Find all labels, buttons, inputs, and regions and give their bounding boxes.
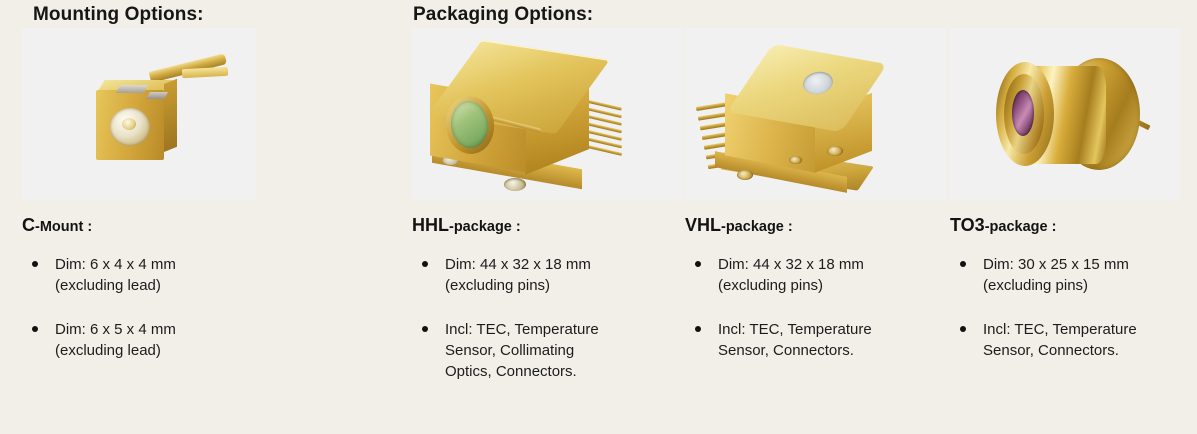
to3-output-window <box>1012 90 1034 136</box>
mounting-options-heading: Mounting Options: <box>33 4 204 26</box>
list-item: Incl: TEC, Temperature Sensor, Collimati… <box>412 319 683 383</box>
spec-text: Incl: TEC, Temperature Sensor, Connector… <box>983 319 1180 362</box>
spec-text: Incl: TEC, Temperature Sensor, Connector… <box>718 319 947 362</box>
to3-product-image <box>950 28 1180 200</box>
vhl-screw <box>737 170 753 180</box>
bullet-icon <box>960 326 966 332</box>
hhl-mounting-hole <box>504 178 526 191</box>
vhl-title-prefix: VHL <box>685 215 721 235</box>
bullet-icon <box>422 326 428 332</box>
to3-photo-panel <box>950 28 1180 200</box>
list-item: Dim: 44 x 32 x 18 mm (excluding pins) <box>685 254 947 297</box>
to3-title-suffix: -package : <box>985 219 1057 235</box>
spec-text: Dim: 44 x 32 x 18 mm (excluding pins) <box>445 254 683 297</box>
bullet-icon <box>32 326 38 332</box>
to3-spec-list: Dim: 30 x 25 x 15 mm (excluding pins) In… <box>950 254 1180 361</box>
spec-text: Dim: 30 x 25 x 15 mm (excluding pins) <box>983 254 1180 297</box>
hhl-title-prefix: HHL <box>412 215 449 235</box>
list-item: Dim: 6 x 4 x 4 mm (excluding lead) <box>22 254 256 297</box>
list-item: Dim: 44 x 32 x 18 mm (excluding pins) <box>412 254 683 297</box>
vhl-title-suffix: -package : <box>721 219 793 235</box>
spec-text: Incl: TEC, Temperature Sensor, Collimati… <box>445 319 683 383</box>
bullet-icon <box>960 261 966 267</box>
bullet-icon <box>695 326 701 332</box>
c-mount-product-image <box>22 28 256 200</box>
c-mount-chip <box>116 85 149 93</box>
bullet-icon <box>695 261 701 267</box>
to3-title-prefix: TO3 <box>950 215 985 235</box>
c-mount-photo-panel <box>22 28 256 200</box>
vhl-spec-list: Dim: 44 x 32 x 18 mm (excluding pins) In… <box>685 254 947 361</box>
hhl-title: HHL-package : <box>412 216 683 236</box>
column-vhl: VHL-package : Dim: 44 x 32 x 18 mm (excl… <box>685 28 947 361</box>
hhl-title-suffix: -package : <box>449 219 521 235</box>
list-item: Dim: 6 x 5 x 4 mm (excluding lead) <box>22 319 256 362</box>
vhl-photo-panel <box>685 28 947 200</box>
list-item: Incl: TEC, Temperature Sensor, Connector… <box>685 319 947 362</box>
vhl-title: VHL-package : <box>685 216 947 236</box>
spec-text: Dim: 6 x 4 x 4 mm (excluding lead) <box>55 254 256 297</box>
bullet-icon <box>422 261 428 267</box>
hhl-photo-panel <box>412 28 683 200</box>
to3-title: TO3-package : <box>950 216 1180 236</box>
c-mount-title-prefix: C <box>22 215 35 235</box>
hhl-product-image <box>412 28 683 200</box>
column-c-mount: C-Mount : Dim: 6 x 4 x 4 mm (excluding l… <box>22 28 256 361</box>
vhl-product-image <box>685 28 947 200</box>
column-hhl: HHL-package : Dim: 44 x 32 x 18 mm (excl… <box>412 28 683 382</box>
list-item: Dim: 30 x 25 x 15 mm (excluding pins) <box>950 254 1180 297</box>
spec-text: Dim: 44 x 32 x 18 mm (excluding pins) <box>718 254 947 297</box>
c-mount-ribbon-lead-tip <box>182 67 228 78</box>
column-to3: TO3-package : Dim: 30 x 25 x 15 mm (excl… <box>950 28 1180 361</box>
hhl-spec-list: Dim: 44 x 32 x 18 mm (excluding pins) In… <box>412 254 683 382</box>
vhl-screw <box>827 146 843 156</box>
spec-text: Dim: 6 x 5 x 4 mm (excluding lead) <box>55 319 256 362</box>
c-mount-title-suffix: -Mount : <box>35 219 92 235</box>
c-mount-spec-list: Dim: 6 x 4 x 4 mm (excluding lead) Dim: … <box>22 254 256 361</box>
bullet-icon <box>32 261 38 267</box>
list-item: Incl: TEC, Temperature Sensor, Connector… <box>950 319 1180 362</box>
c-mount-lens-highlight <box>122 118 136 130</box>
c-mount-title: C-Mount : <box>22 216 256 236</box>
packaging-options-heading: Packaging Options: <box>413 4 593 26</box>
c-mount-right-face <box>164 79 177 152</box>
vhl-screw <box>789 156 802 164</box>
